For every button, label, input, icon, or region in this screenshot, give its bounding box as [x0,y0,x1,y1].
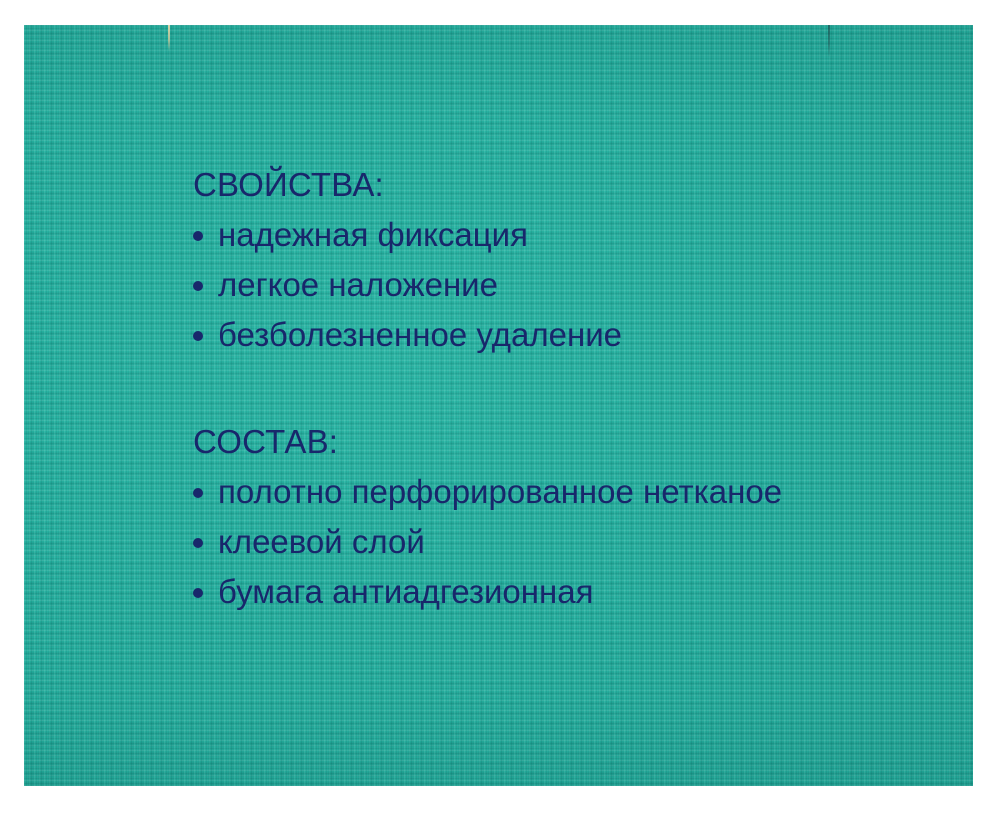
section-composition: СОСТАВ: полотно перфорированное нетканое… [193,417,913,617]
list-item: безболезненное удаление [193,310,913,360]
list-item: легкое наложение [193,260,913,310]
product-info-text: СВОЙСТВА: надежная фиксация легкое налож… [193,160,913,617]
section-composition-list: полотно перфорированное нетканое клеевой… [193,467,913,617]
bullet-dot-icon [193,281,203,291]
light-thread-fibre-icon [168,25,170,51]
list-item: полотно перфорированное нетканое [193,467,913,517]
list-item-label: полотно перфорированное нетканое [218,473,782,510]
list-item-label: клеевой слой [218,523,425,560]
bullet-dot-icon [193,538,203,548]
bullet-dot-icon [193,331,203,341]
list-item-label: легкое наложение [218,266,498,303]
list-item-label: бумага антиадгезионная [218,573,593,610]
bullet-dot-icon [193,231,203,241]
list-item: бумага антиадгезионная [193,567,913,617]
list-item-label: безболезненное удаление [218,316,622,353]
screenshot-canvas: СВОЙСТВА: надежная фиксация легкое налож… [0,0,1000,813]
bullet-dot-icon [193,488,203,498]
section-properties-list: надежная фиксация легкое наложение безбо… [193,210,913,360]
list-item: надежная фиксация [193,210,913,260]
section-divider-space [193,360,913,417]
section-properties-title: СВОЙСТВА: [193,160,913,210]
section-composition-title: СОСТАВ: [193,417,913,467]
section-properties: СВОЙСТВА: надежная фиксация легкое налож… [193,160,913,360]
fabric-panel: СВОЙСТВА: надежная фиксация легкое налож… [24,25,973,786]
dark-thread-fibre-icon [828,25,830,57]
bullet-dot-icon [193,588,203,598]
list-item: клеевой слой [193,517,913,567]
list-item-label: надежная фиксация [218,216,528,253]
